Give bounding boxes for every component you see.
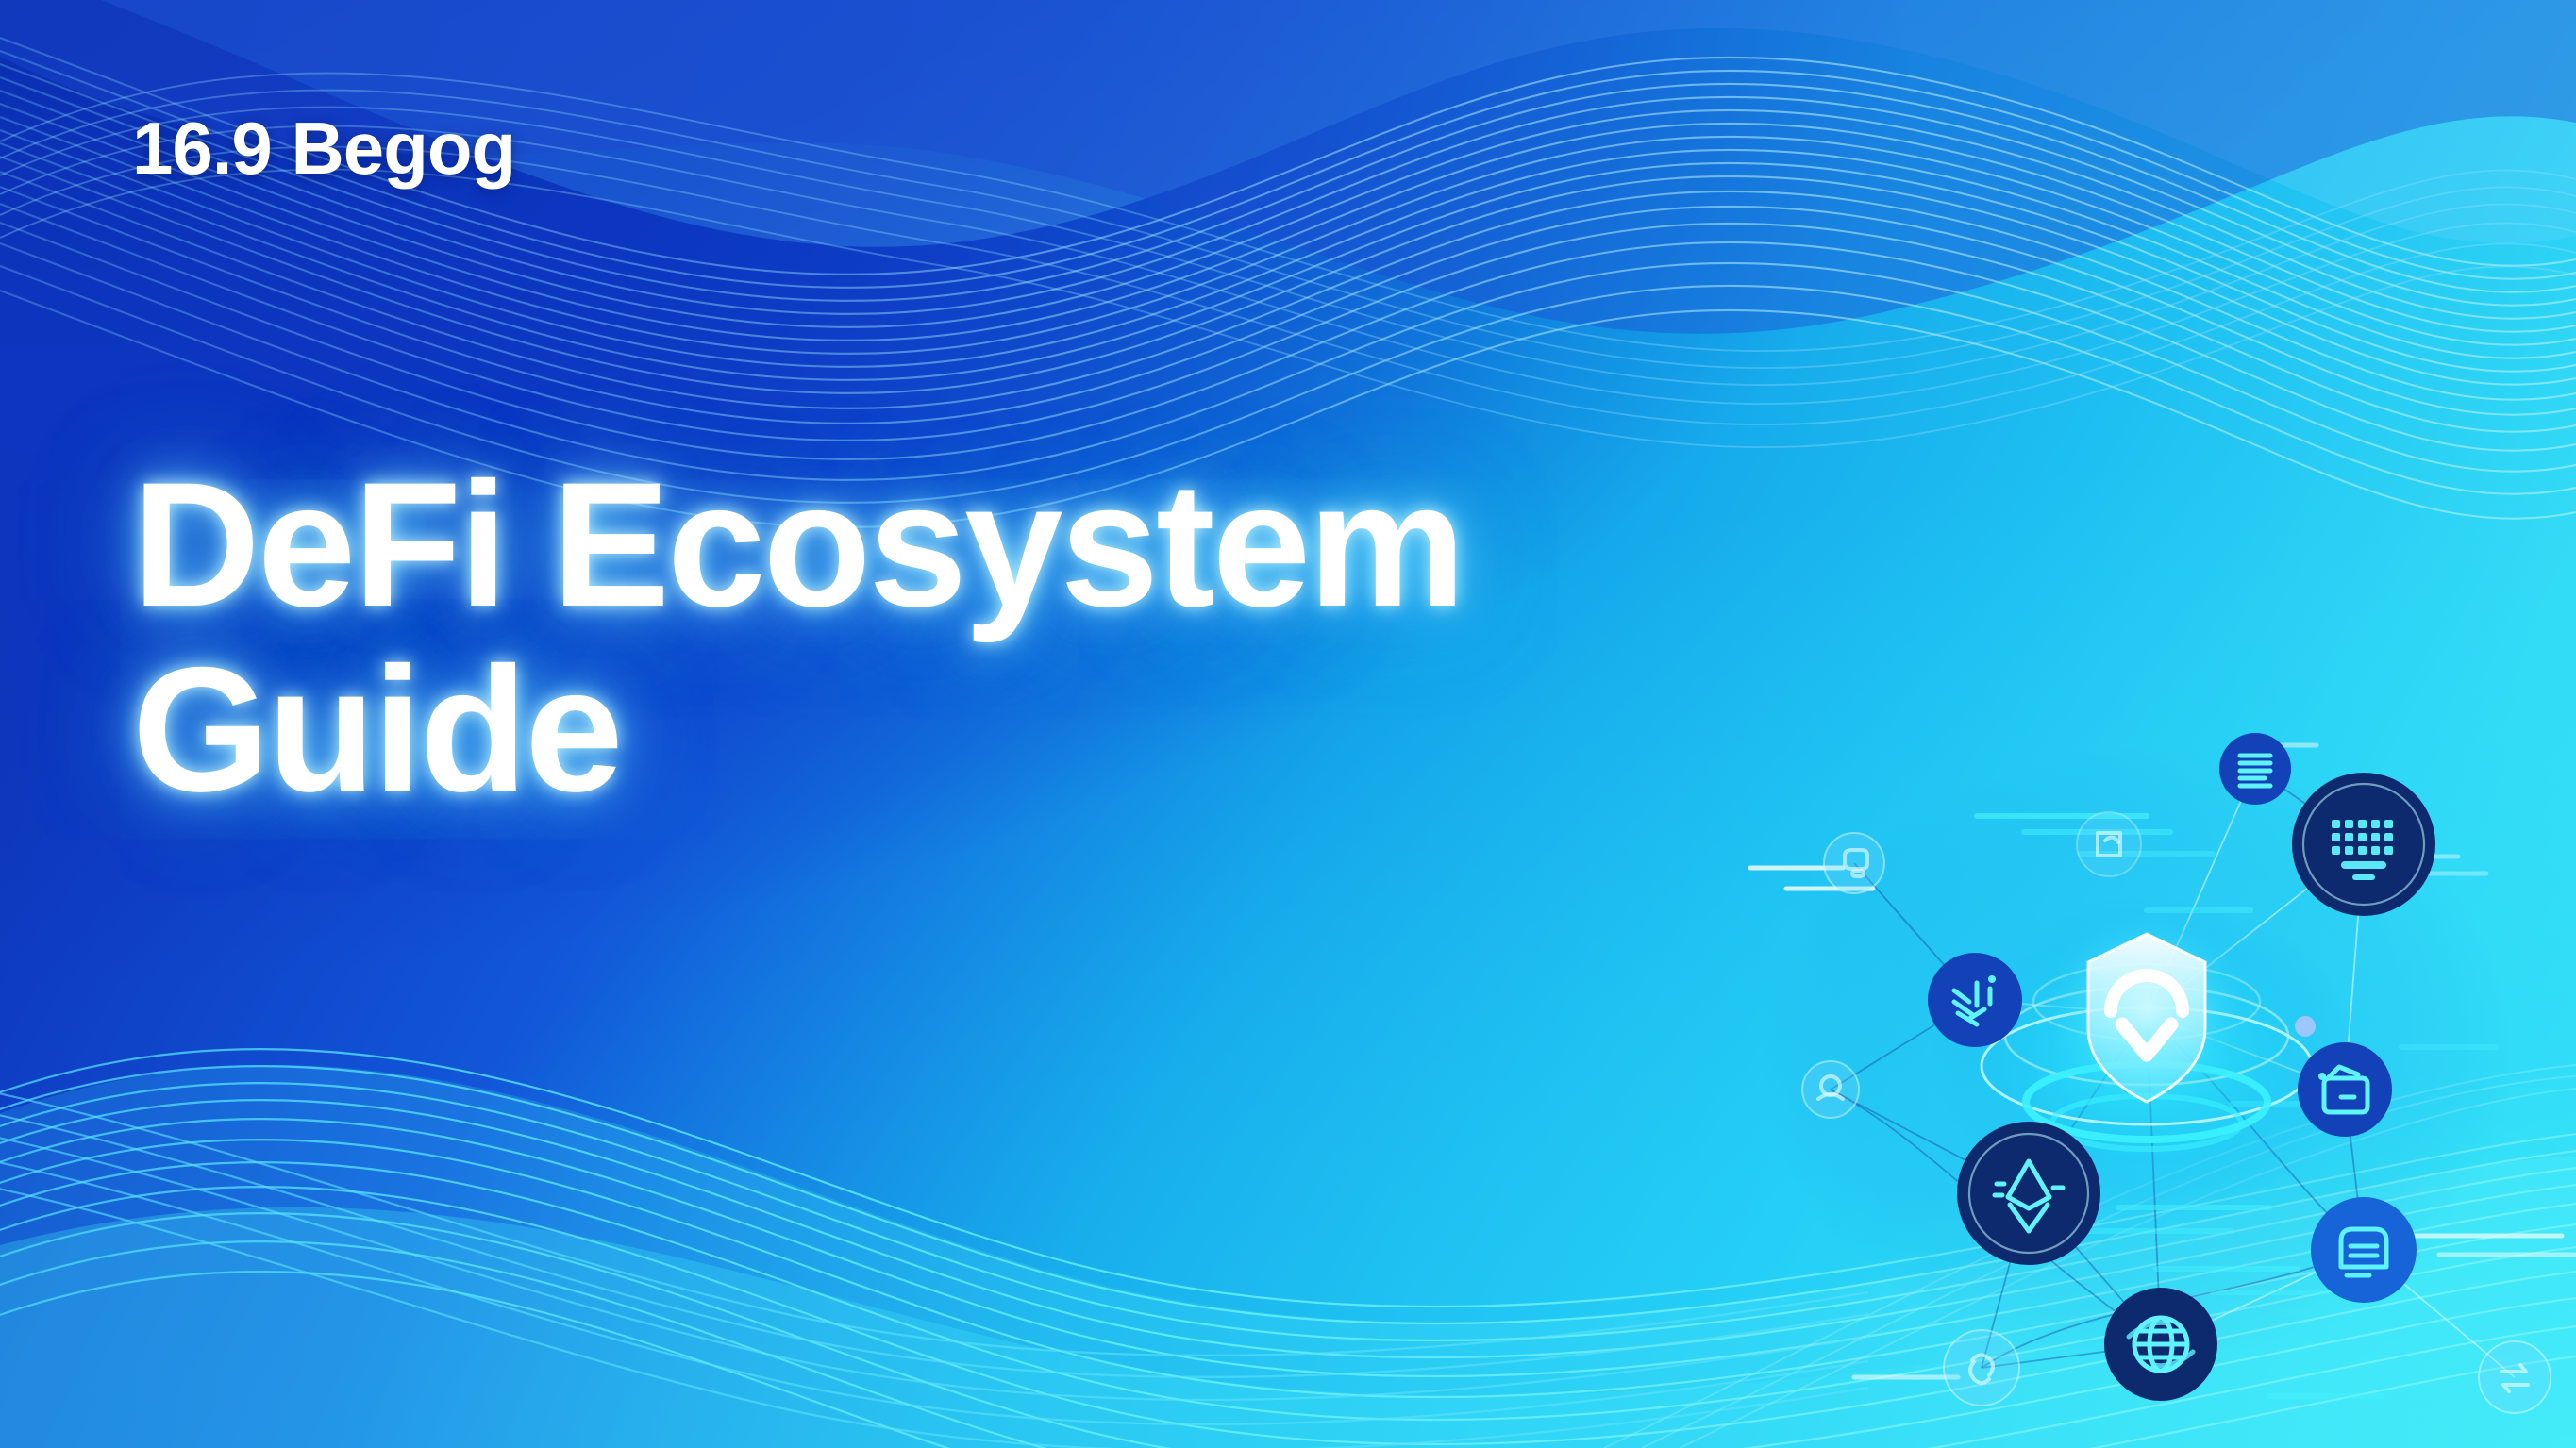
node-document bbox=[2219, 733, 2291, 805]
node-exchange-faint bbox=[2479, 1341, 2551, 1413]
node-contract bbox=[2311, 1197, 2417, 1303]
brand-logo-text: 16.9 Begog bbox=[132, 106, 515, 191]
headline-line-1: DeFi Ecosystem bbox=[132, 453, 1925, 638]
node-chip-faint bbox=[1802, 1061, 1859, 1118]
headline-line-2: Guide bbox=[132, 638, 1925, 823]
node-lock-faint bbox=[2077, 812, 2141, 876]
node-link-faint bbox=[1944, 1330, 2019, 1406]
node-globe bbox=[2104, 1288, 2217, 1401]
page-title: DeFi Ecosystem Guide bbox=[132, 453, 1925, 822]
accent-dot bbox=[2295, 1016, 2316, 1037]
node-wallet bbox=[2298, 1042, 2392, 1137]
node-coin-faint bbox=[1824, 833, 1884, 893]
defi-ecosystem-banner: 16.9 Begog DeFi Ecosystem Guide bbox=[0, 0, 2576, 1448]
node-ethereum bbox=[1957, 1122, 2100, 1265]
node-keyboard bbox=[2292, 773, 2435, 916]
node-layers bbox=[1928, 953, 2022, 1047]
